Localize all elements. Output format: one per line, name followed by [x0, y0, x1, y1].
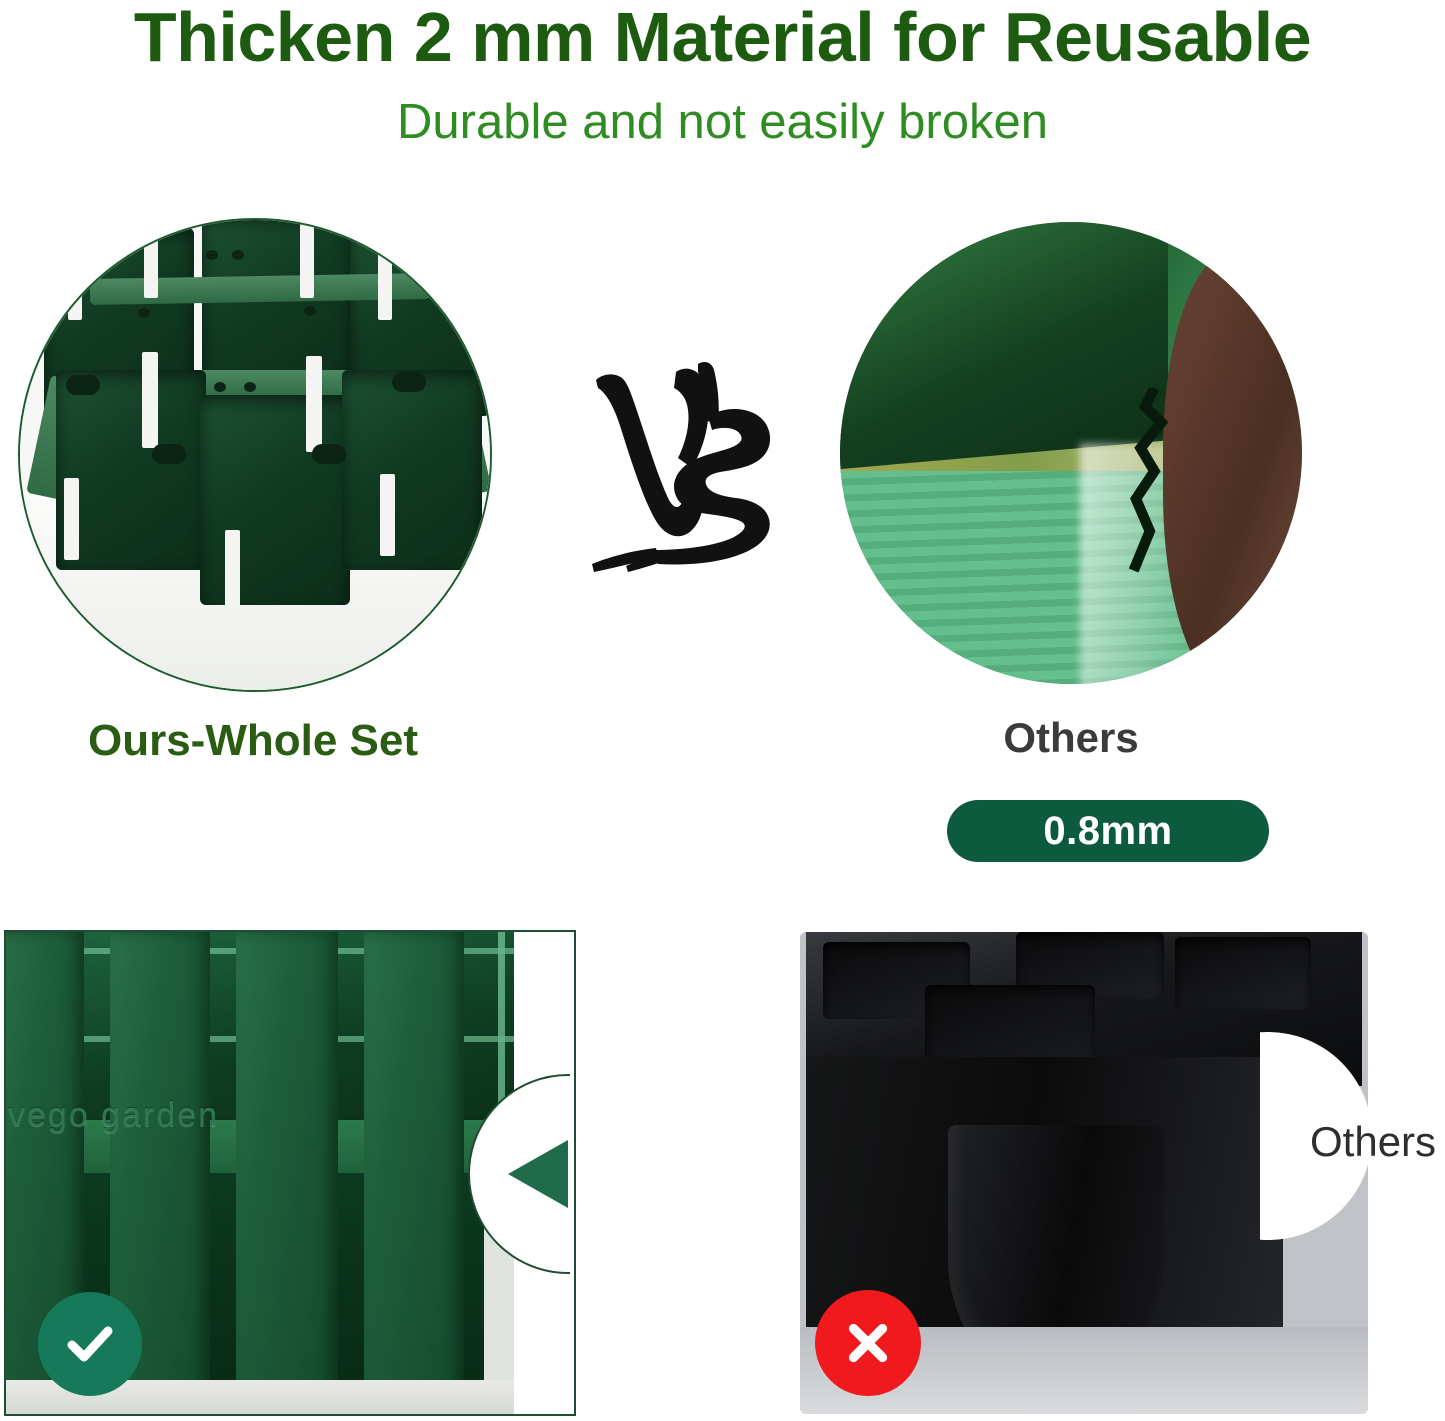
check-mark-badge — [38, 1292, 142, 1396]
mold-hole — [244, 382, 256, 392]
product-comparison-infographic: Thicken 2 mm Material for Reusable Durab… — [0, 0, 1445, 1421]
page-title: Thicken 2 mm Material for Reusable — [0, 2, 1445, 73]
x-mark-badge — [815, 1290, 921, 1396]
ours-product-photo-circle — [18, 218, 492, 692]
tray-cell — [200, 395, 350, 605]
drain-slot — [64, 478, 79, 560]
drain-slot — [225, 530, 240, 608]
mold-hole — [232, 250, 244, 260]
drain-slot — [300, 224, 314, 298]
vs-brush-mark-icon — [588, 358, 778, 573]
mold-hole — [392, 372, 426, 392]
mold-hole — [138, 308, 150, 318]
crack-line-icon — [1099, 388, 1201, 573]
tray-cell — [342, 370, 482, 570]
left-pointing-arrow-icon — [508, 1140, 568, 1208]
drain-slot — [68, 242, 82, 320]
drain-slot — [142, 352, 158, 448]
cracked-green-pot-photo — [840, 222, 1302, 684]
drain-slot — [378, 246, 392, 320]
ours-label: Ours-Whole Set — [18, 716, 488, 766]
close-icon — [837, 1312, 899, 1374]
others-label: Others — [840, 714, 1302, 762]
drain-slot — [144, 226, 158, 298]
mold-hole — [214, 382, 226, 392]
mold-hole — [152, 444, 186, 464]
green-seed-tray-photo — [20, 220, 490, 690]
vego-garden-emboss-text: vego garden — [8, 1096, 219, 1135]
black-tray-cell — [1175, 937, 1311, 1009]
drain-slot — [380, 474, 395, 556]
mold-hole — [206, 250, 218, 260]
check-icon — [60, 1314, 120, 1374]
mold-hole — [312, 444, 346, 464]
others-thickness-badge: 0.8mm — [947, 800, 1269, 862]
mold-hole — [304, 306, 316, 316]
mold-hole — [66, 375, 100, 395]
drain-slot — [306, 356, 322, 452]
thickness-badge-text: 0.8mm — [1043, 809, 1172, 854]
others-bottom-label: Others — [1310, 1118, 1436, 1166]
others-product-photo-circle — [840, 222, 1302, 684]
page-subtitle: Durable and not easily broken — [0, 96, 1445, 150]
